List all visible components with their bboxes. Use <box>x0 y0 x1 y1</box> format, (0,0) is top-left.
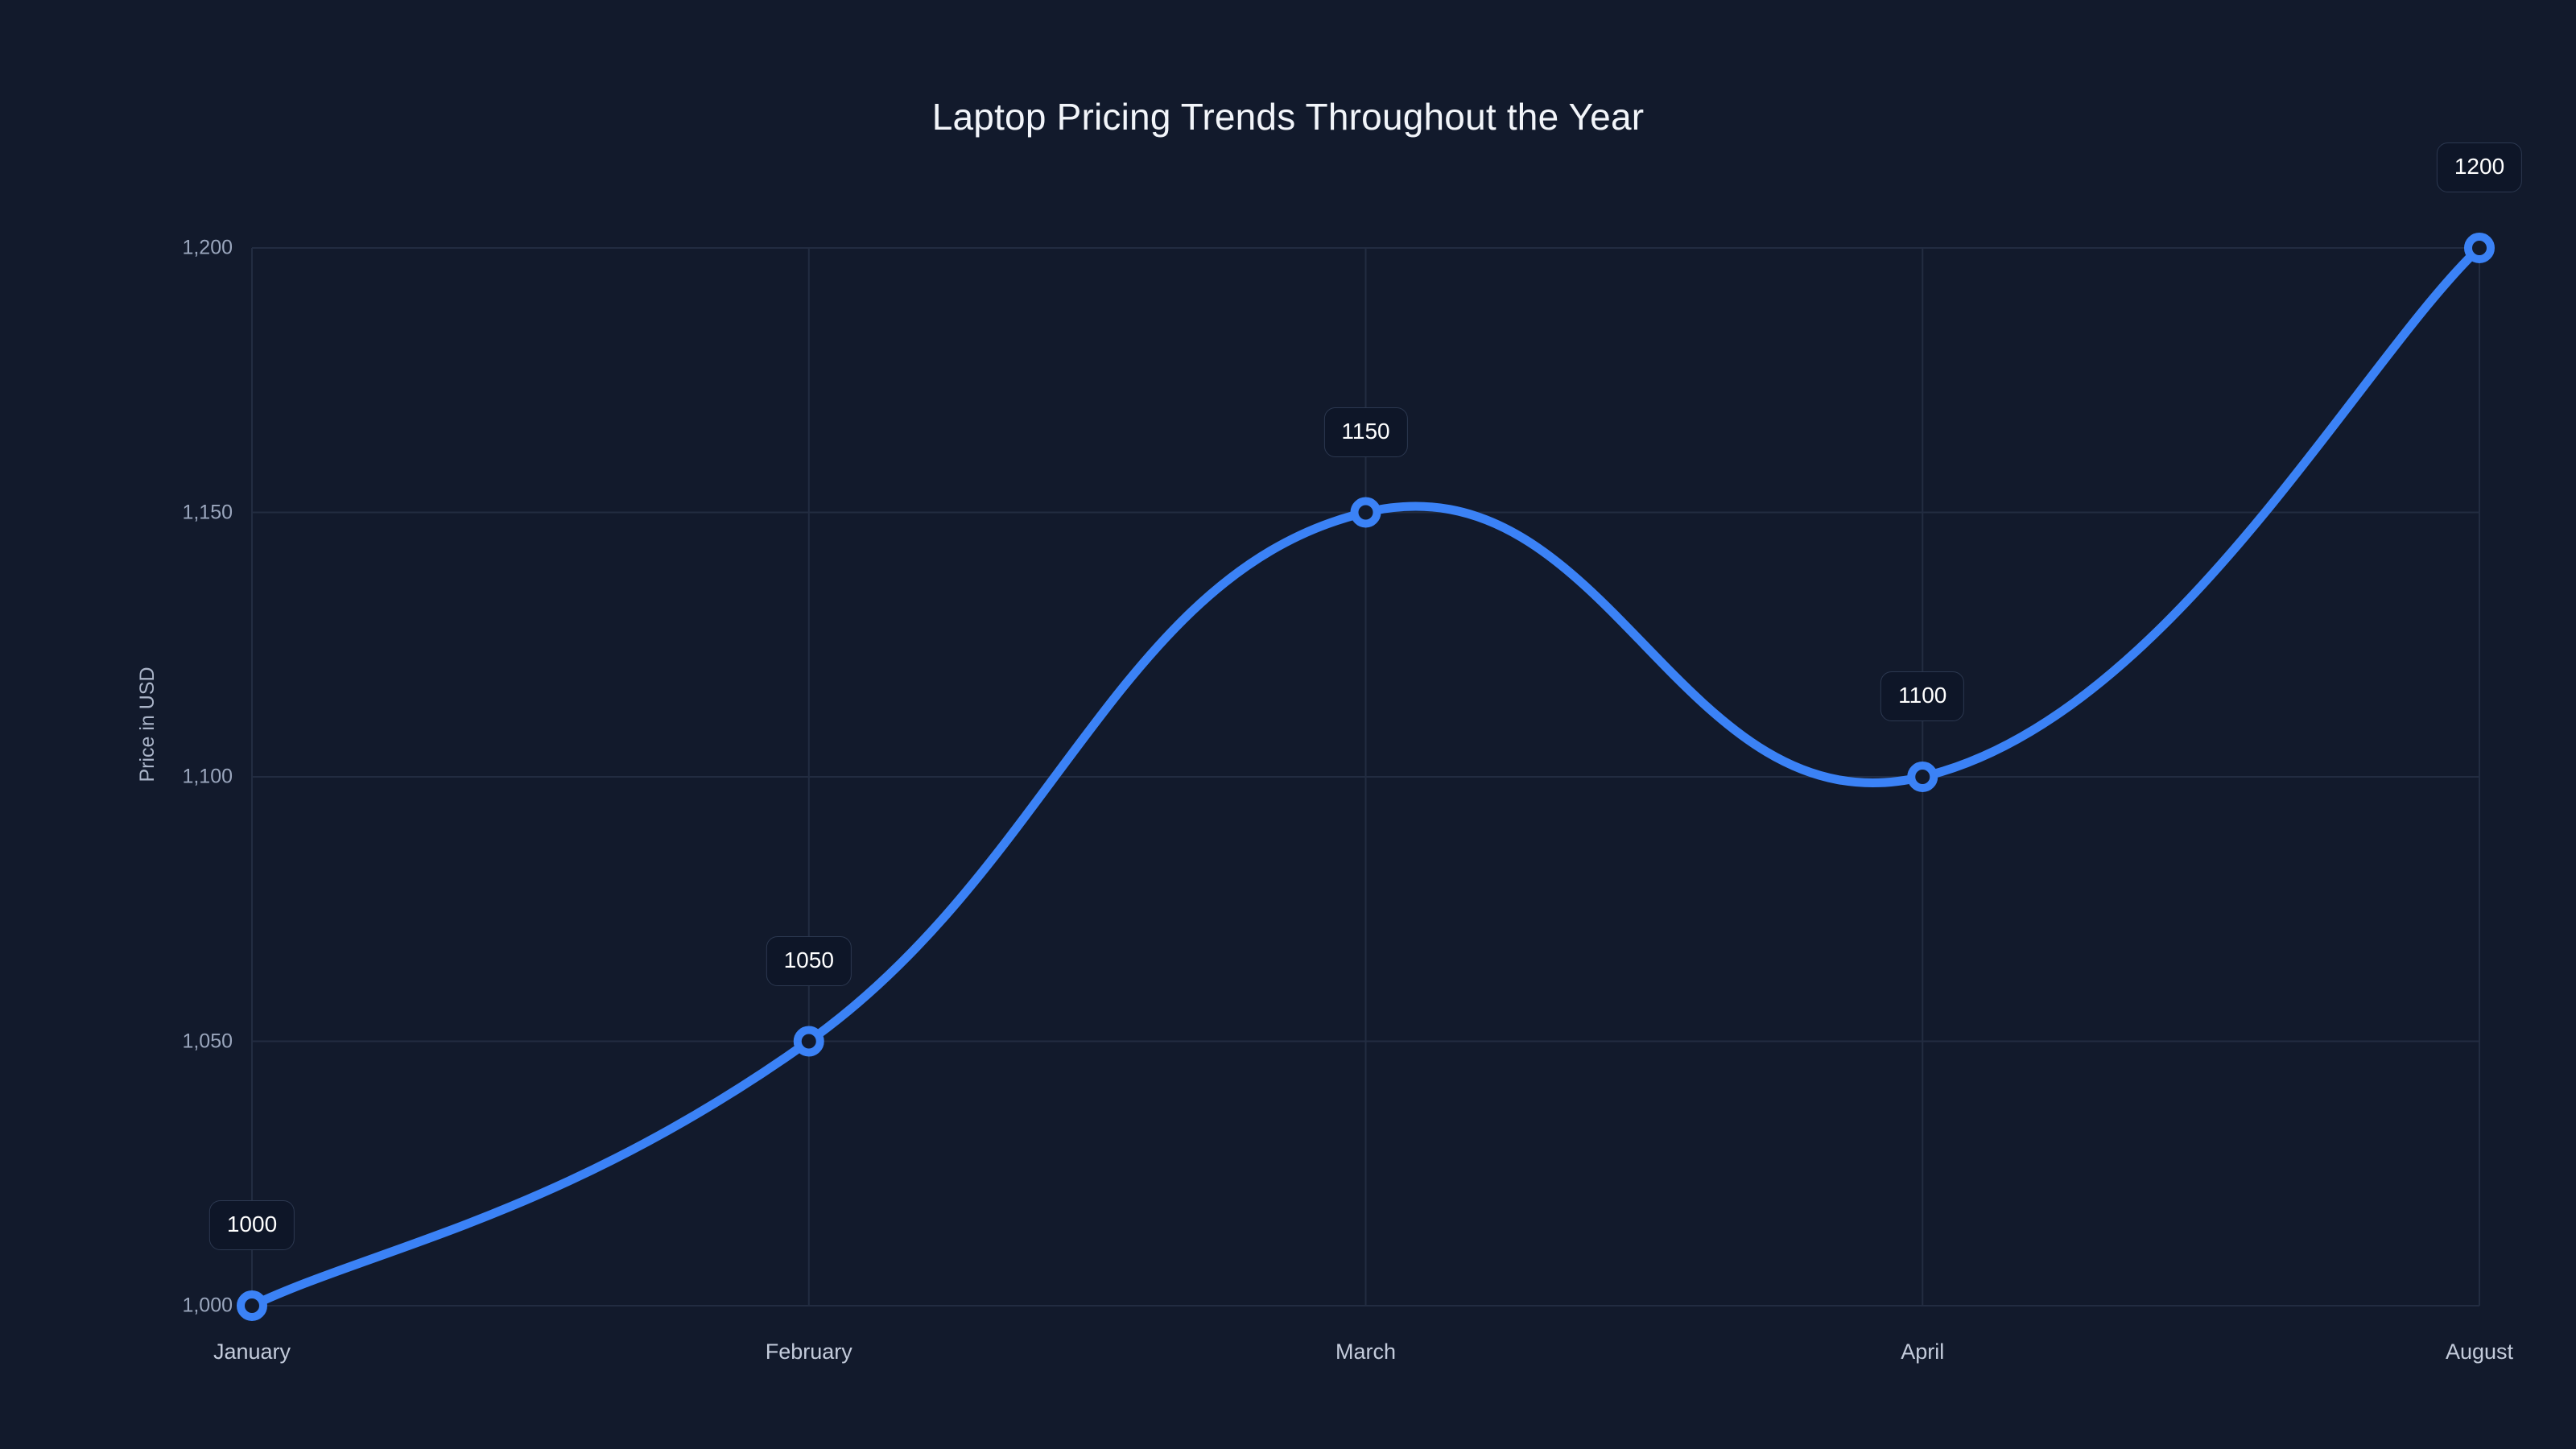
y-axis-tick-label: 1,000 <box>182 1294 233 1318</box>
x-axis-tick-label: April <box>1901 1340 1944 1364</box>
plot-area: Price in USD 1,0001,0501,1001,1501,200 J… <box>0 0 2576 1449</box>
chart-page: Laptop Pricing Trends Throughout the Yea… <box>0 0 2576 1449</box>
data-point-label[interactable]: 1150 <box>1323 407 1407 457</box>
data-point-label[interactable]: 1050 <box>766 936 852 986</box>
y-axis-tick-label: 1,150 <box>182 501 233 524</box>
y-axis-tick-label: 1,050 <box>182 1030 233 1053</box>
y-axis-title: Price in USD <box>136 667 159 782</box>
data-point-label[interactable]: 1100 <box>1880 671 1964 721</box>
x-axis-tick-label: February <box>766 1340 852 1364</box>
data-point-label[interactable]: 1000 <box>209 1200 295 1250</box>
x-axis-tick-label: January <box>213 1340 291 1364</box>
chart-svg <box>0 0 2576 1449</box>
y-axis-tick-label: 1,100 <box>182 766 233 789</box>
y-axis-tick-label: 1,200 <box>182 237 233 260</box>
x-axis-tick-label: March <box>1335 1340 1396 1364</box>
data-point-label[interactable]: 1200 <box>2437 142 2522 192</box>
x-axis-tick-label: August <box>2446 1340 2513 1364</box>
